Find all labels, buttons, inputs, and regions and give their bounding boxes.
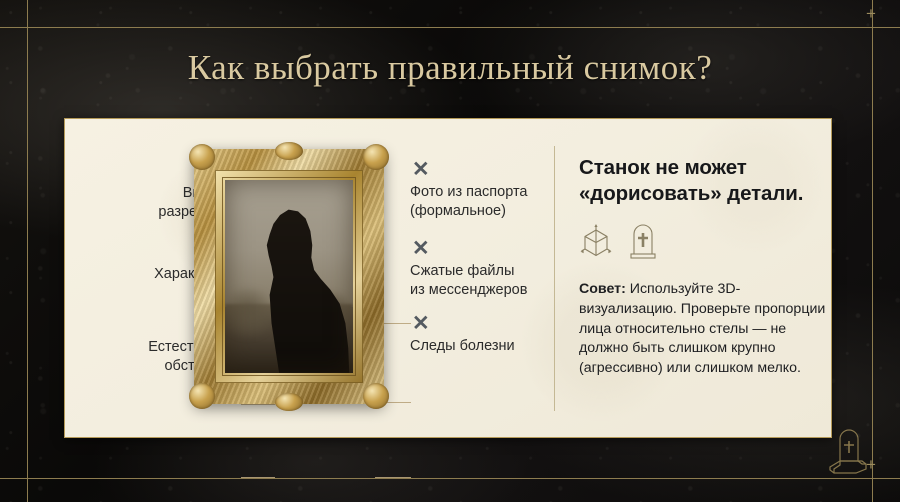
page-title: Как выбрать правильный снимок? <box>0 48 900 88</box>
list-item-label: Следы болезни <box>410 337 600 356</box>
tombstone-icon <box>627 221 659 264</box>
rule-bottom-horizontal <box>0 478 900 479</box>
portrait-photo <box>225 180 353 373</box>
slide-root: + + Как выбрать правильный снимок? ✓ Выс… <box>0 0 900 502</box>
check-icon: ✓ <box>65 240 213 262</box>
content-card: ✓ Высокое разрешение ✓ Характерная поза … <box>64 118 832 438</box>
list-item-label: Сжатые файлы из мессенджеров <box>410 262 600 299</box>
info-panel: Станок не может «дорисовать» детали. <box>579 155 827 378</box>
list-item-bad-3: ✕ Следы болезни <box>410 313 600 356</box>
check-icon: ✓ <box>65 159 213 181</box>
check-icon: ✓ <box>65 313 213 335</box>
tip-text: Совет: Используйте 3D-визуализацию. Пров… <box>579 280 827 378</box>
monument-outline-icon <box>822 427 876 480</box>
panel-icons <box>579 221 827 264</box>
list-item-bad-2: ✕ Сжатые файлы из мессенджеров <box>410 238 600 299</box>
cross-x-icon: ✕ <box>412 159 600 180</box>
portrait-frame <box>194 149 384 404</box>
cross-x-icon: ✕ <box>412 238 600 259</box>
corner-plus-top-right-icon: + <box>866 5 876 22</box>
connector-good-2 <box>241 404 275 405</box>
connector-bad-3 <box>375 477 411 478</box>
list-item-bad-1: ✕ Фото из паспорта (формальное) <box>410 159 600 220</box>
cross-x-icon: ✕ <box>412 313 600 334</box>
rule-top-horizontal <box>0 27 900 28</box>
vertical-divider <box>554 146 555 411</box>
3d-cube-icon <box>579 223 613 264</box>
tip-label: Совет: <box>579 281 626 297</box>
connector-good-3 <box>241 477 275 478</box>
panel-heading: Станок не может «дорисовать» детали. <box>579 155 827 207</box>
list-item-label: Фото из паспорта (формальное) <box>410 183 600 220</box>
